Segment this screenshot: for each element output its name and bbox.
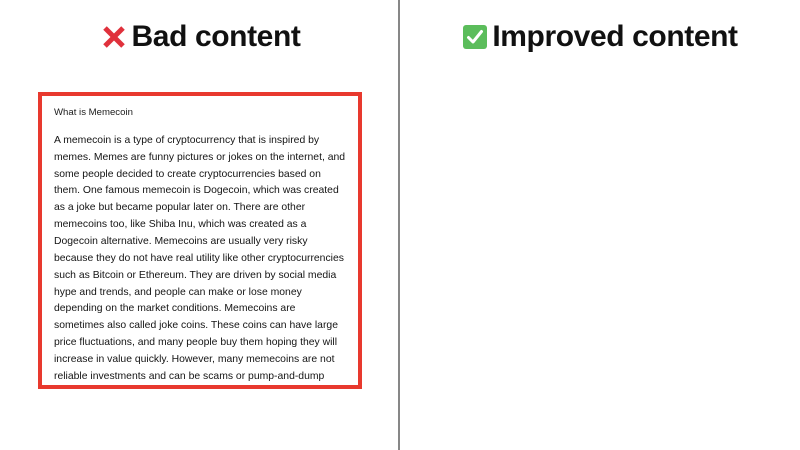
comparison-slide: Bad content What is Memecoin A memecoin …: [0, 0, 800, 450]
bad-content-doc-title: What is Memecoin: [54, 106, 346, 120]
bad-content-textbox: What is Memecoin A memecoin is a type of…: [38, 92, 362, 389]
bad-content-doc-body: A memecoin is a type of cryptocurrency t…: [54, 133, 346, 389]
bad-content-panel: Bad content What is Memecoin A memecoin …: [0, 0, 400, 450]
white-check-mark-icon: [462, 24, 488, 50]
improved-content-header: Improved content: [400, 0, 800, 58]
cross-mark-icon: [100, 23, 128, 51]
improved-content-title: Improved content: [492, 22, 737, 52]
bad-content-header: Bad content: [0, 0, 400, 58]
bad-content-title: Bad content: [132, 22, 301, 52]
improved-content-panel: Improved content •••🐸 What Is a Memecoin…: [400, 0, 800, 450]
